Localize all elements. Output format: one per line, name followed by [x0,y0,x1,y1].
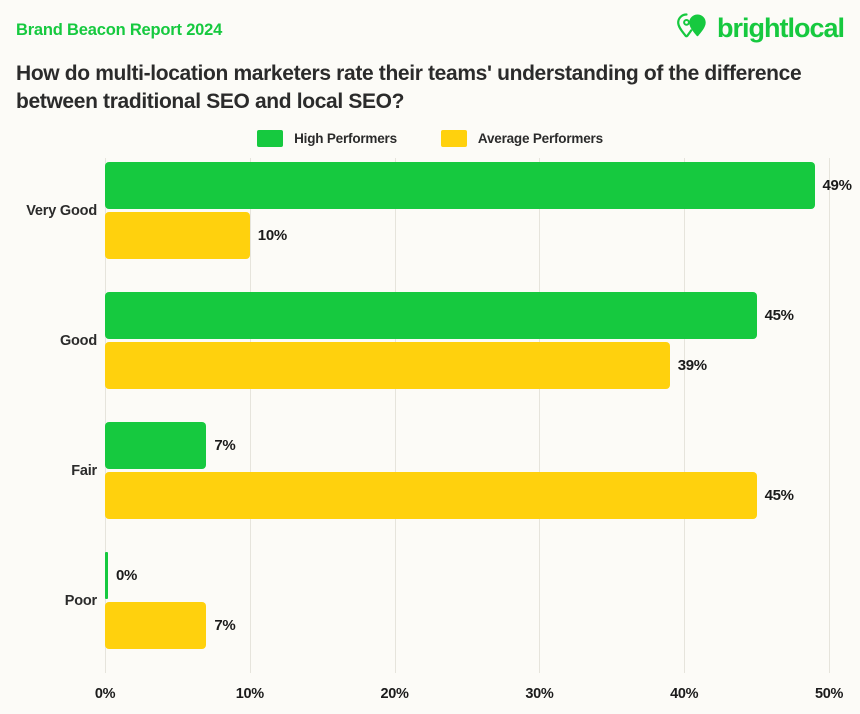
bar-value-label: 10% [258,212,287,259]
header: Brand Beacon Report 2024 brightlocal [0,0,860,56]
report-eyebrow: Brand Beacon Report 2024 [16,21,222,40]
bar-value-label: 7% [214,602,235,649]
x-axis-tick-label: 0% [95,686,115,702]
x-axis-tick-label: 10% [236,686,264,702]
gridline [684,158,685,673]
bar-very-good-high[interactable] [105,162,815,209]
x-axis-tick-label: 20% [381,686,409,702]
map-pin-icon [677,13,711,44]
gridline [395,158,396,673]
x-axis-tick-label: 30% [525,686,553,702]
plot-area: 49%10%45%39%7%45%0%7% [105,158,829,673]
bar-fair-average[interactable] [105,472,757,519]
legend-item-average-performers[interactable]: Average Performers [441,130,603,147]
bar-very-good-average[interactable] [105,212,250,259]
chart-page: Brand Beacon Report 2024 brightlocal How… [0,0,860,714]
bar-good-high[interactable] [105,292,757,339]
x-axis: 0%10%20%30%40%50% [105,673,829,714]
legend-label: High Performers [294,131,397,146]
bar-value-label: 45% [765,472,794,519]
y-axis-label-fair: Fair [0,463,97,479]
bar-good-average[interactable] [105,342,670,389]
legend-swatch-icon [441,130,467,147]
chart-legend: High PerformersAverage Performers [0,130,860,147]
y-axis-label-poor: Poor [0,593,97,609]
plot-wrapper: Very GoodGoodFairPoor 49%10%45%39%7%45%0… [0,158,860,714]
bar-fair-high[interactable] [105,422,206,469]
legend-swatch-icon [257,130,283,147]
y-axis-label-good: Good [0,333,97,349]
brightlocal-logo: brightlocal [677,13,844,44]
bar-poor-high[interactable] [105,552,108,599]
gridline [539,158,540,673]
gridline [250,158,251,673]
x-axis-tick-label: 50% [815,686,843,702]
bar-poor-average[interactable] [105,602,206,649]
legend-label: Average Performers [478,131,603,146]
logo-wordmark: brightlocal [717,15,844,42]
y-axis-labels: Very GoodGoodFairPoor [0,158,97,673]
bar-value-label: 39% [678,342,707,389]
legend-item-high-performers[interactable]: High Performers [257,130,397,147]
x-axis-tick-label: 40% [670,686,698,702]
bar-value-label: 49% [823,162,852,209]
bar-value-label: 7% [214,422,235,469]
y-axis-label-very-good: Very Good [0,203,97,219]
chart-title: How do multi-location marketers rate the… [16,60,826,115]
bar-value-label: 0% [116,552,137,599]
bar-value-label: 45% [765,292,794,339]
gridline [829,158,830,673]
